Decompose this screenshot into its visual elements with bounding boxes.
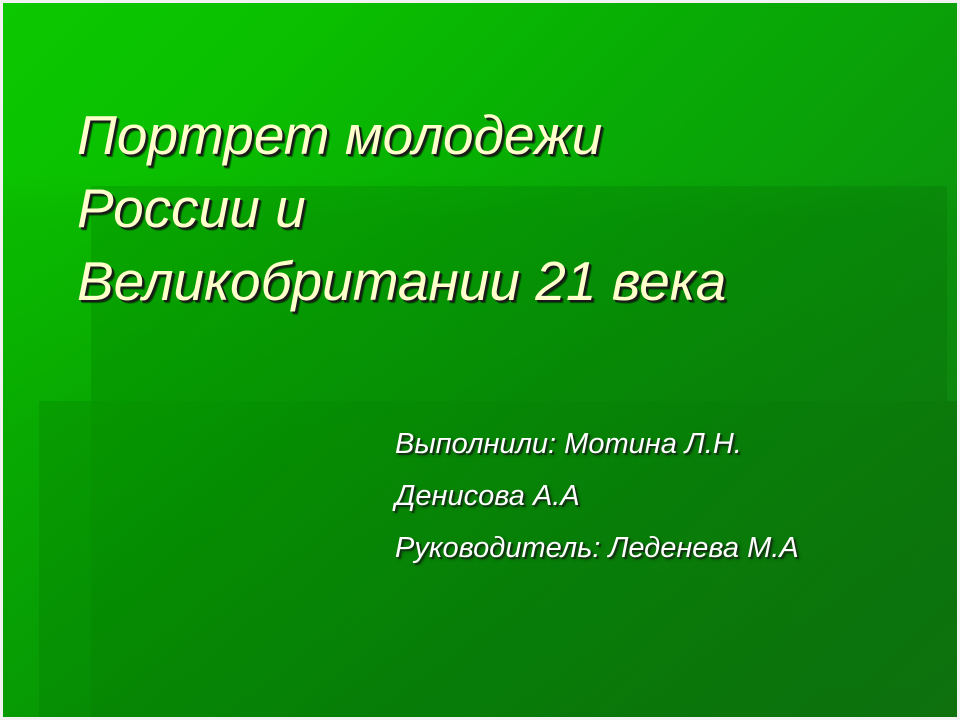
subtitle-line-authors: Выполнили: Мотина Л.Н.	[395, 418, 935, 470]
presentation-title-slide: Портрет молодежи России и Великобритании…	[0, 0, 960, 720]
title-line-1: Портрет молодежи	[77, 99, 927, 172]
title-line-3: Великобритании 21 века	[77, 245, 927, 318]
subtitle-line-author-2: Денисова А.А	[395, 470, 935, 522]
subtitle-line-supervisor: Руководитель: Леденева М.А	[395, 522, 935, 574]
title-line-2: России и	[77, 172, 927, 245]
slide-subtitle[interactable]: Выполнили: Мотина Л.Н. Денисова А.А Руко…	[395, 418, 935, 574]
slide-title[interactable]: Портрет молодежи России и Великобритании…	[77, 99, 927, 318]
